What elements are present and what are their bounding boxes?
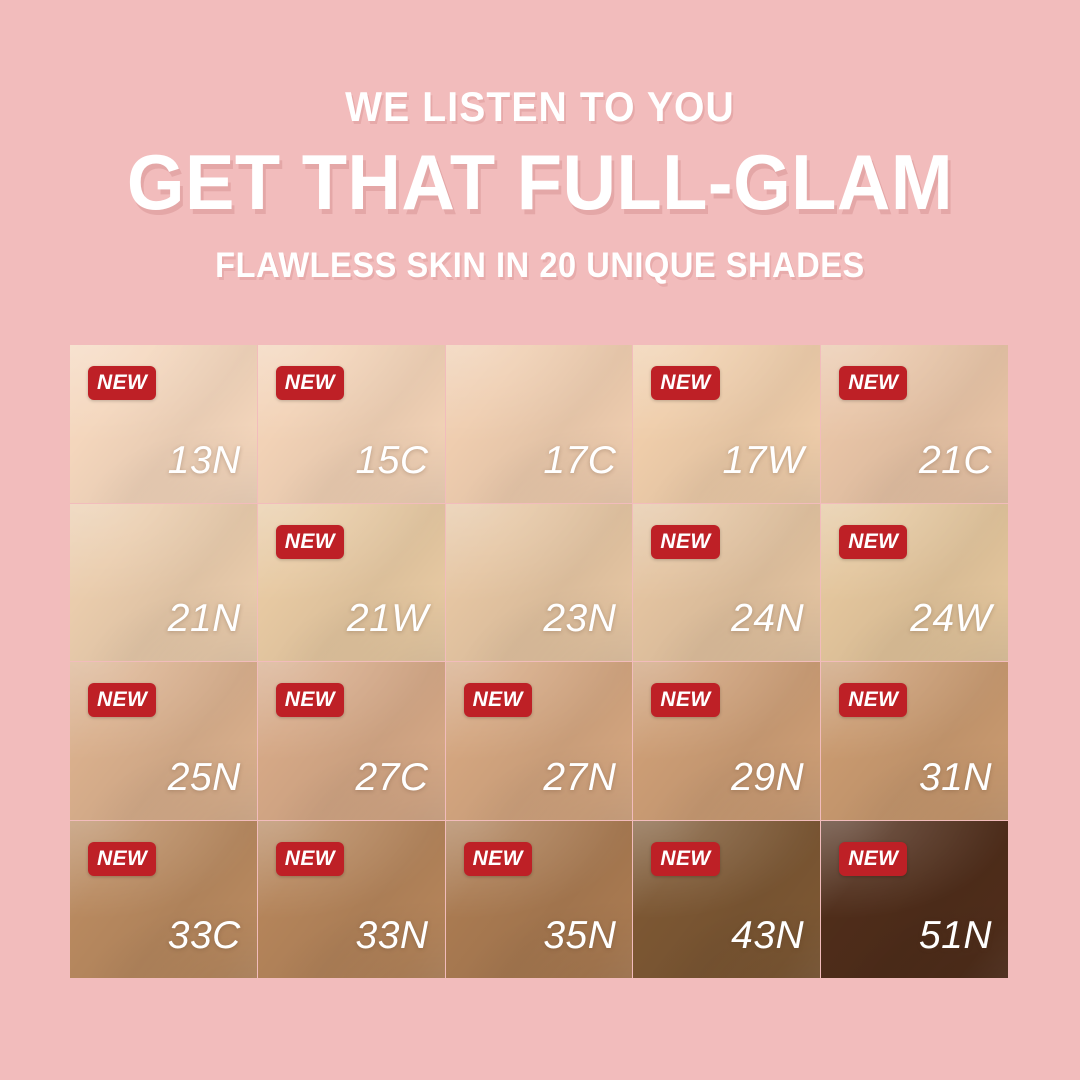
shade-code-label: 17C	[543, 441, 616, 480]
shade-code-label: 43N	[731, 916, 804, 955]
shade-code-label: 17W	[722, 441, 804, 480]
shade-code-label: 33C	[168, 916, 241, 955]
shade-code-label: 31N	[919, 758, 992, 797]
shade-swatch[interactable]: NEW25N	[70, 662, 257, 820]
shade-swatch[interactable]: NEW27C	[258, 662, 445, 820]
shade-code-label: 21C	[919, 441, 992, 480]
shade-swatch[interactable]: NEW33N	[258, 821, 445, 979]
eyebrow-text: WE LISTEN TO YOU	[38, 84, 1042, 130]
new-badge: NEW	[276, 842, 344, 876]
new-badge: NEW	[88, 683, 156, 717]
shade-swatch[interactable]: NEW51N	[821, 821, 1008, 979]
new-badge: NEW	[88, 842, 156, 876]
shade-code-label: 13N	[168, 441, 241, 480]
shade-swatch[interactable]: NEW21N	[70, 504, 257, 662]
new-badge: NEW	[839, 525, 907, 559]
new-badge: NEW	[276, 525, 344, 559]
shade-code-label: 35N	[543, 916, 616, 955]
shade-code-label: 25N	[168, 758, 241, 797]
header: WE LISTEN TO YOU GET THAT FULL-GLAM FLAW…	[0, 84, 1080, 286]
new-badge: NEW	[839, 842, 907, 876]
shade-swatch-grid: NEW13NNEW15CNEW17CNEW17WNEW21CNEW21NNEW2…	[70, 345, 1008, 978]
shade-code-label: 23N	[543, 599, 616, 638]
shade-swatch[interactable]: NEW21W	[258, 504, 445, 662]
shade-code-label: 24N	[731, 599, 804, 638]
shade-code-label: 29N	[731, 758, 804, 797]
new-badge: NEW	[839, 366, 907, 400]
shade-swatch[interactable]: NEW13N	[70, 345, 257, 503]
new-badge: NEW	[839, 683, 907, 717]
shade-code-label: 24W	[910, 599, 992, 638]
shade-swatch[interactable]: NEW24W	[821, 504, 1008, 662]
shade-swatch[interactable]: NEW27N	[446, 662, 633, 820]
shade-swatch[interactable]: NEW17C	[446, 345, 633, 503]
shade-code-label: 27C	[356, 758, 429, 797]
shade-swatch[interactable]: NEW23N	[446, 504, 633, 662]
shade-swatch[interactable]: NEW17W	[633, 345, 820, 503]
shade-swatch[interactable]: NEW33C	[70, 821, 257, 979]
new-badge: NEW	[651, 683, 719, 717]
shade-swatch[interactable]: NEW21C	[821, 345, 1008, 503]
new-badge: NEW	[276, 366, 344, 400]
new-badge: NEW	[651, 842, 719, 876]
new-badge: NEW	[88, 366, 156, 400]
new-badge: NEW	[464, 842, 532, 876]
shade-swatch[interactable]: NEW31N	[821, 662, 1008, 820]
shade-swatch[interactable]: NEW35N	[446, 821, 633, 979]
shade-code-label: 33N	[356, 916, 429, 955]
shade-range-poster: WE LISTEN TO YOU GET THAT FULL-GLAM FLAW…	[0, 0, 1080, 1080]
headline-text: GET THAT FULL-GLAM	[27, 140, 1053, 224]
shade-swatch[interactable]: NEW15C	[258, 345, 445, 503]
shade-swatch[interactable]: NEW29N	[633, 662, 820, 820]
shade-code-label: 15C	[356, 441, 429, 480]
new-badge: NEW	[464, 683, 532, 717]
shade-code-label: 21W	[347, 599, 429, 638]
new-badge: NEW	[651, 525, 719, 559]
shade-swatch[interactable]: NEW24N	[633, 504, 820, 662]
shade-code-label: 21N	[168, 599, 241, 638]
shade-swatch[interactable]: NEW43N	[633, 821, 820, 979]
shade-code-label: 51N	[919, 916, 992, 955]
subheadline-text: FLAWLESS SKIN IN 20 UNIQUE SHADES	[38, 246, 1042, 286]
new-badge: NEW	[651, 366, 719, 400]
new-badge: NEW	[276, 683, 344, 717]
shade-code-label: 27N	[543, 758, 616, 797]
